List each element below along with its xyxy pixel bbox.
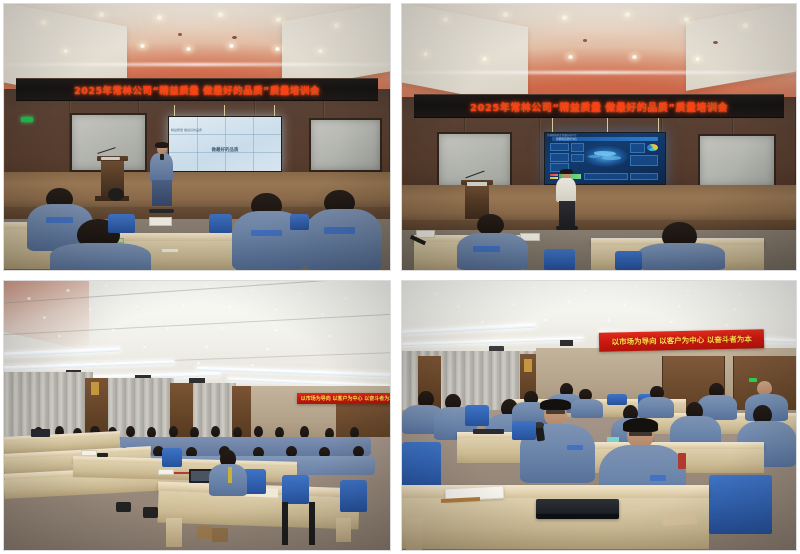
exit-sign: [749, 378, 757, 382]
slide-corner-text: 精益质量 做最好的品质: [171, 128, 202, 132]
uniform-back-logo: [46, 217, 73, 223]
folder-on-desk: [473, 429, 505, 434]
black-folder-edge: [536, 514, 619, 519]
ceiling-downlight: [185, 47, 192, 51]
laptop: [31, 429, 50, 437]
uniform-chest-logo: [650, 475, 666, 482]
collage-cell-top-left[interactable]: 2025年常林公司“精益质量 做最好的品质”质量培训会 精益质量 做最好的品质 …: [0, 0, 396, 274]
dashboard-card: [630, 155, 658, 166]
presenter-shoes: [149, 209, 174, 213]
ceiling-downlight: [274, 47, 281, 51]
attendee-torso: [638, 243, 725, 270]
nameplate: [81, 450, 96, 455]
desk-item-paper: [162, 249, 177, 253]
red-banner-bottom-right: 以市场为导向 以客户为中心 以奋斗者为本: [599, 329, 765, 351]
ceiling-downlight: [567, 55, 574, 59]
speaker-hair: [540, 399, 572, 410]
nameplate: [416, 230, 436, 238]
photo-top-left: 2025年常林公司“精益质量 做最好的品质”质量培训会 精益质量 做最好的品质 …: [4, 4, 390, 270]
eyeglasses: [546, 410, 566, 414]
collage-cell-bottom-left[interactable]: 以市场为导向 以客户为中心 以奋斗者为本: [0, 274, 396, 554]
screen-rod: [552, 118, 553, 131]
ceiling-downlight: [228, 44, 235, 48]
podium-control-panel: [101, 157, 120, 160]
photo-bottom-right: 以市场为导向 以客户为中心 以奋斗者为本: [402, 281, 796, 550]
led-banner-text: 2025年常林公司“精益质量 做最好的品质”质量培训会: [470, 99, 728, 114]
chair: [465, 405, 489, 427]
desk-leg: [406, 518, 422, 550]
podium-control-panel: [467, 182, 487, 186]
presenter-torso: [556, 178, 576, 202]
dashboard-card: [630, 143, 644, 153]
dashboard-header-text: 智能制造管控中心: [556, 137, 577, 141]
collage-cell-top-right[interactable]: 2025年常林公司“精益质量 做最好的品质”质量培训会 智能制造管控中心 常林智…: [396, 0, 800, 274]
ceiling-sensor: [583, 39, 587, 42]
chair-leg: [282, 502, 288, 545]
desk-leg: [336, 518, 351, 542]
red-banner-text: 以市场为导向 以客户为中心 以奋斗者为本: [612, 333, 752, 347]
led-banner-text: 2025年常林公司“精益质量 做最好的品质”质量培训会: [74, 83, 320, 97]
screen-rod: [274, 105, 275, 116]
nameplate: [158, 469, 173, 474]
ceiling-downlight: [631, 55, 638, 59]
dashboard-card: [571, 143, 584, 152]
presenter-microphone: [160, 154, 164, 160]
cup: [607, 437, 619, 442]
ceiling-downlight: [139, 44, 146, 48]
nameplate: [149, 217, 172, 226]
attendee-torso: [50, 243, 150, 270]
ceiling-cove-band: [402, 71, 796, 74]
exit-sign: [21, 117, 33, 122]
screen-rod: [658, 118, 659, 131]
bag-on-floor: [108, 188, 123, 201]
slide-title-text: 做最好的品质: [211, 148, 238, 153]
ceiling-downlight: [694, 57, 701, 61]
chair-foreground: [709, 475, 772, 534]
attendee-hair-foreground: [623, 418, 658, 431]
shoe: [212, 528, 227, 541]
attendee-torso: [571, 399, 603, 418]
uniform-chest-logo: [567, 445, 583, 450]
screen-rod: [174, 105, 175, 116]
dashboard-header-bar: 智能制造管控中心: [552, 137, 658, 141]
presenter-legs: [559, 201, 575, 228]
door-emblem: [91, 382, 99, 395]
dashboard-map-region: [602, 156, 620, 160]
dashboard-pie-chart: [647, 144, 658, 151]
uniform-back-logo: [473, 246, 501, 252]
photo-collage: 2025年常林公司“精益质量 做最好的品质”质量培训会 精益质量 做最好的品质 …: [0, 0, 800, 554]
chair: [209, 214, 232, 233]
dashboard-status-red: [550, 174, 558, 176]
chair: [607, 394, 627, 405]
ceiling-cove-band: [4, 63, 390, 66]
chair-leg: [309, 502, 315, 545]
collage-cell-bottom-right[interactable]: 以市场为导向 以客户为中心 以奋斗者为本: [396, 274, 800, 554]
dashboard-card: [571, 154, 584, 162]
attendee-torso: [638, 397, 673, 419]
desk-leg: [166, 518, 181, 548]
lanyard: [228, 467, 232, 483]
side-projection-screen-right: [309, 118, 382, 171]
chair: [512, 421, 536, 440]
shoe: [143, 507, 158, 518]
ceiling-downlight: [332, 23, 341, 28]
red-pen: [174, 472, 189, 474]
red-banner-bottom-left: 以市场为导向 以客户为中心 以奋斗者为本: [297, 393, 390, 404]
badge-ribbon: [678, 453, 686, 469]
ceiling-vent: [560, 340, 574, 345]
dashboard-trend-chart: [630, 173, 658, 180]
chair: [615, 251, 643, 270]
door-emblem: [524, 359, 532, 372]
dashboard-corner-text: 常林智能制造 数据分析平台: [547, 133, 576, 137]
side-projection-screen-right: [698, 134, 777, 187]
shoe: [116, 502, 131, 513]
chair: [282, 475, 309, 505]
chair: [108, 214, 135, 233]
phone: [97, 453, 109, 457]
screen-rod: [224, 105, 225, 116]
dashboard-status-yellow: [550, 177, 558, 179]
attendee-torso: [305, 209, 382, 270]
chair: [162, 448, 181, 467]
ceiling-downlight: [155, 15, 164, 20]
chair: [544, 249, 576, 270]
screen-rod: [607, 118, 608, 131]
ceiling-downlight: [741, 23, 750, 28]
red-banner-text: 以市场为导向 以客户为中心 以奋斗者为本: [301, 395, 390, 402]
dashboard-card: [550, 153, 569, 162]
presenter-legs: [152, 180, 171, 207]
presenter-shoes: [556, 226, 578, 230]
ceiling-downlight: [39, 20, 48, 25]
dashboard-card: [550, 143, 569, 151]
presenter-hair: [560, 169, 573, 174]
photo-bottom-left: 以市场为导向 以客户为中心 以奋斗者为本: [4, 281, 390, 550]
presenter-hair: [155, 142, 169, 147]
led-banner-top-left: 2025年常林公司“精益质量 做最好的品质”质量培训会: [16, 78, 379, 101]
dashboard-bar-chart: [584, 173, 627, 180]
shoe: [197, 526, 212, 539]
chair: [290, 214, 309, 230]
ceiling-sensor: [232, 36, 237, 39]
ceiling-downlight: [97, 12, 106, 17]
led-banner-top-right: 2025年常林公司“精益质量 做最好的品质”质量培训会: [414, 94, 784, 118]
photo-top-right: 2025年常林公司“精益质量 做最好的品质”质量培训会 智能制造管控中心 常林智…: [402, 4, 796, 270]
ceiling-downlight: [422, 52, 429, 56]
chair: [402, 442, 441, 490]
uniform-back-logo: [324, 227, 355, 233]
eyeglasses: [629, 432, 653, 436]
ceiling-downlight: [560, 15, 569, 20]
uniform-back-logo: [251, 230, 282, 236]
chair: [340, 480, 367, 512]
main-projection-screen: 精益质量 做最好的品质 做最好的品质: [168, 116, 282, 172]
ceiling-downlight: [623, 12, 632, 17]
ceiling-downlight: [501, 12, 510, 17]
